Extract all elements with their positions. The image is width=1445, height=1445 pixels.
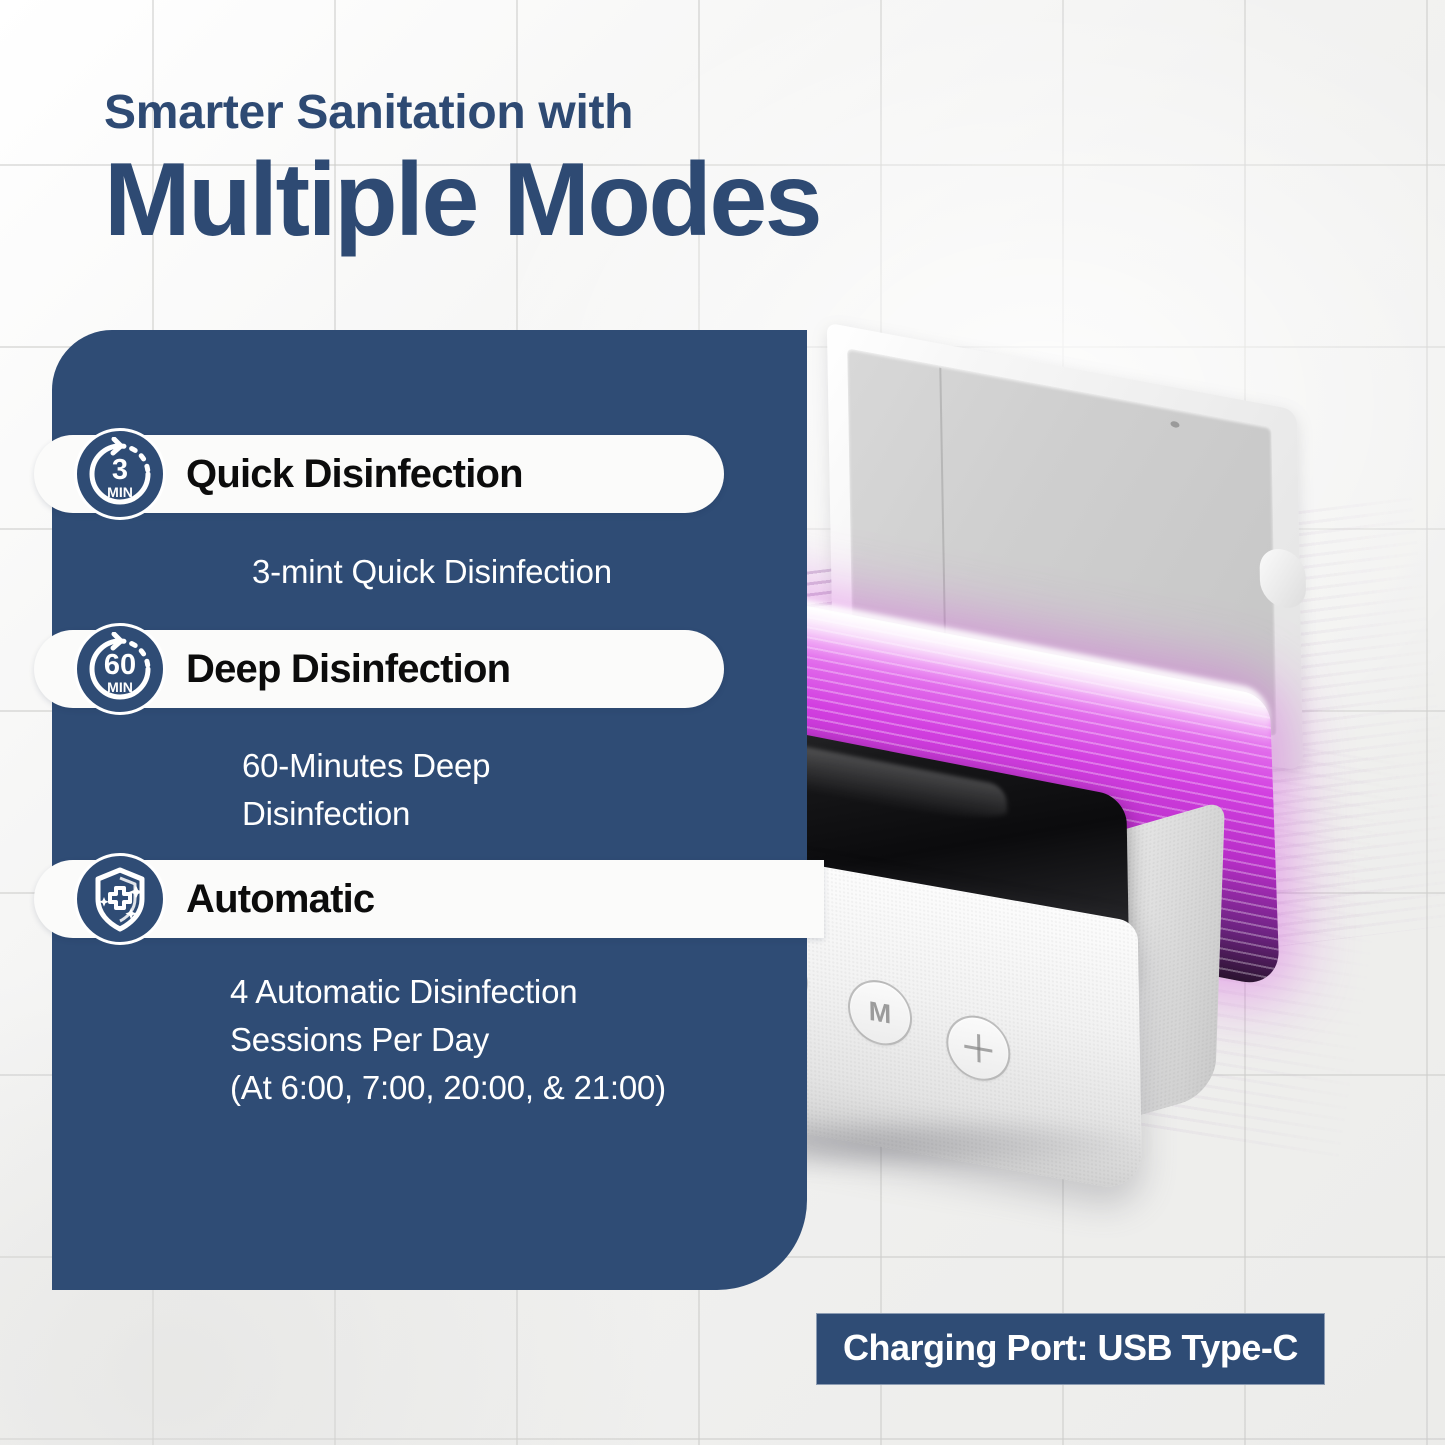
timer-60-min-icon: 60 MIN (74, 623, 166, 715)
feature-3-desc-line-3: (At 6:00, 7:00, 20:00, & 21:00) (230, 1064, 666, 1112)
status-badge: Charging Port: USB Type-C (816, 1313, 1325, 1385)
feature-1-title: Quick Disinfection (186, 452, 523, 497)
timer-3-min-icon: 3 MIN (74, 428, 166, 520)
feature-2-title: Deep Disinfection (186, 647, 510, 692)
features-panel: Quick Disinfection 3 MIN 3-mint Quick Di… (52, 330, 807, 1290)
headline-line-1: Smarter Sanitation with (104, 82, 1104, 144)
headline-line-2: Multiple Modes (104, 148, 1104, 252)
feature-3-desc-line-1: 4 Automatic Disinfection (230, 968, 666, 1016)
svg-text:3: 3 (112, 454, 128, 486)
feature-2-description: 60-Minutes Deep Disinfection (242, 742, 490, 838)
feature-3-title: Automatic (186, 877, 374, 922)
plus-icon-vertical (977, 1034, 980, 1063)
feature-3-description: 4 Automatic Disinfection Sessions Per Da… (230, 968, 666, 1112)
mode-button[interactable]: M (847, 975, 912, 1051)
feature-3-desc-line-2: Sessions Per Day (230, 1016, 666, 1064)
svg-text:60: 60 (104, 649, 136, 681)
page-title: Smarter Sanitation with Multiple Modes (104, 82, 1104, 252)
svg-text:MIN: MIN (107, 484, 133, 500)
feature-2-desc-line-2: Disinfection (242, 790, 490, 838)
shield-medical-cross-icon (74, 853, 166, 945)
feature-1-desc-line-1: 3-mint Quick Disinfection (252, 548, 612, 596)
feature-2-desc-line-1: 60-Minutes Deep (242, 742, 490, 790)
promo-image: Smarter Sanitation with Multiple Modes (0, 0, 1445, 1445)
plus-button[interactable] (946, 1010, 1011, 1086)
feature-1-description: 3-mint Quick Disinfection (252, 548, 612, 596)
mode-icon: M (868, 995, 891, 1030)
svg-text:MIN: MIN (107, 679, 133, 695)
